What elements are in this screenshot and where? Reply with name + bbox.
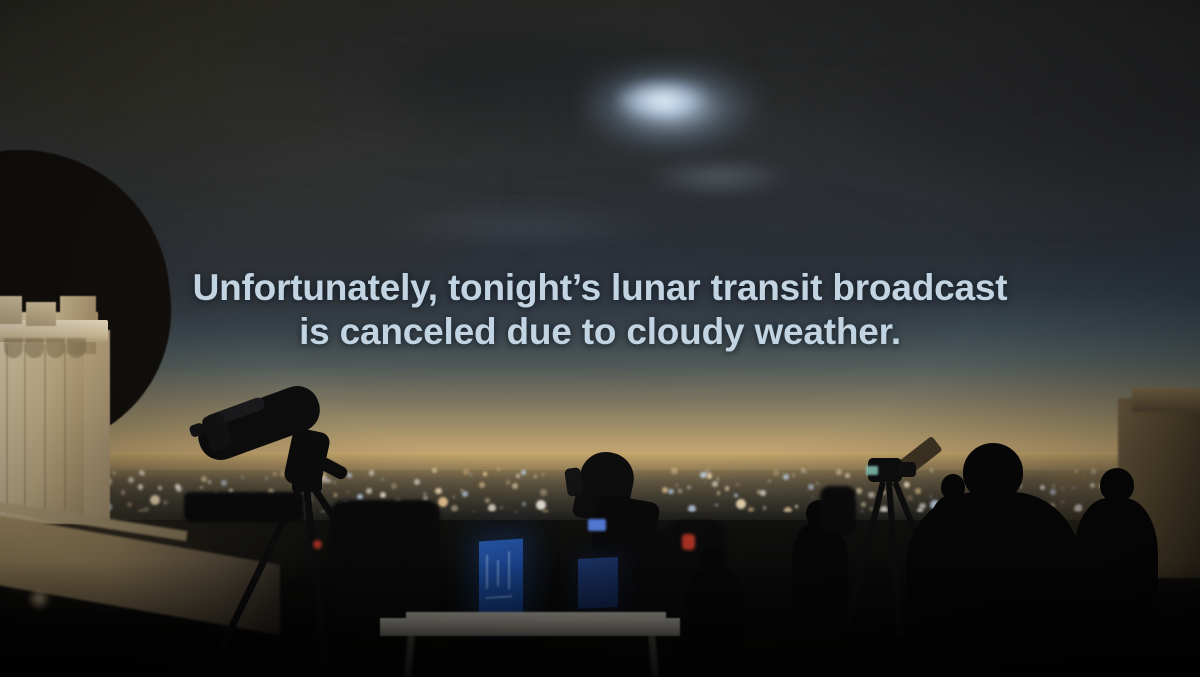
camera-right-lens <box>898 462 916 477</box>
camera-right-lcd-screen <box>866 466 878 475</box>
city-light <box>763 506 766 509</box>
low-wall-object-left <box>184 492 304 522</box>
city-light <box>534 475 537 478</box>
equipment-box-right <box>820 486 856 534</box>
photo-scene: Unfortunately, tonight’s lunar transit b… <box>0 0 1200 677</box>
city-light <box>158 486 162 490</box>
city-light <box>671 468 678 475</box>
city-light <box>678 489 681 492</box>
city-light <box>453 496 455 498</box>
city-light <box>241 476 245 480</box>
city-light <box>717 479 719 481</box>
city-light <box>522 502 526 506</box>
person-seated-body <box>686 568 744 648</box>
laptop-screen-primary[interactable] <box>479 538 523 615</box>
city-light <box>435 488 442 495</box>
red-flashlight-center <box>682 534 695 550</box>
city-light <box>488 504 496 512</box>
city-light <box>915 488 921 494</box>
city-light <box>736 499 746 509</box>
city-light <box>662 487 668 493</box>
person-left-crouching <box>352 505 404 575</box>
city-light <box>208 480 212 484</box>
city-light <box>265 477 268 480</box>
city-light <box>1040 485 1046 491</box>
city-light <box>334 493 338 497</box>
city-light <box>715 504 718 507</box>
city-light <box>836 469 842 475</box>
city-light <box>461 489 464 492</box>
city-light <box>725 486 730 491</box>
city-light <box>221 480 227 486</box>
moon-bright-core <box>614 78 710 122</box>
person-mid-right-body <box>927 496 979 606</box>
laptop-screen-secondary[interactable] <box>578 557 618 609</box>
city-light <box>483 472 487 476</box>
city-light <box>717 491 721 495</box>
city-light <box>423 492 427 496</box>
city-light <box>200 486 203 489</box>
city-light <box>391 483 397 489</box>
moonlit-cloud-wisp <box>648 160 788 194</box>
city-light <box>139 470 144 475</box>
city-light <box>500 506 503 509</box>
city-light <box>121 490 126 495</box>
city-light <box>333 481 336 484</box>
city-light <box>861 502 866 507</box>
city-light <box>768 480 771 483</box>
city-light <box>804 471 807 474</box>
city-light <box>668 489 673 494</box>
city-light <box>676 484 678 486</box>
city-light <box>930 469 933 472</box>
city-light <box>521 470 526 475</box>
city-light <box>451 505 458 512</box>
city-light <box>347 473 352 478</box>
city-light <box>462 491 468 497</box>
city-light <box>704 481 707 484</box>
red-indicator-light-left <box>313 540 322 549</box>
city-light <box>463 469 469 475</box>
caption-text: Unfortunately, tonight’s lunar transit b… <box>0 266 1200 354</box>
city-light <box>201 476 207 482</box>
city-light <box>783 474 789 480</box>
city-light <box>512 483 518 489</box>
city-light <box>773 470 779 476</box>
city-light <box>868 492 875 499</box>
city-light <box>128 477 134 483</box>
city-light <box>327 479 331 483</box>
city-light <box>516 474 520 478</box>
city-light <box>792 474 795 477</box>
city-light <box>112 471 116 475</box>
city-light <box>273 472 277 476</box>
city-light <box>812 496 814 498</box>
city-light <box>795 505 798 508</box>
city-light <box>485 498 490 503</box>
city-light <box>369 470 375 476</box>
city-light <box>687 486 690 489</box>
city-light <box>438 497 448 507</box>
city-light <box>707 473 712 478</box>
city-light <box>479 482 485 488</box>
city-light <box>414 479 420 485</box>
city-light <box>380 492 386 498</box>
city-light <box>366 488 372 494</box>
terrace-lamp-glow <box>28 588 50 610</box>
city-light <box>346 491 348 493</box>
table-surface-front <box>380 618 680 636</box>
city-light <box>506 480 511 485</box>
telescope-center-blue-indicator <box>588 519 606 531</box>
person-mid-body <box>792 522 848 622</box>
city-light <box>930 495 933 498</box>
city-light <box>808 484 814 490</box>
city-light <box>907 495 913 501</box>
city-light <box>856 488 862 494</box>
person-right-head <box>1100 468 1134 502</box>
person-right-body <box>1074 498 1158 638</box>
city-light <box>381 478 384 481</box>
city-light <box>736 483 739 486</box>
city-light <box>816 482 819 485</box>
city-light <box>542 473 545 476</box>
city-light <box>175 484 179 488</box>
city-light <box>717 477 719 479</box>
city-light <box>138 484 144 490</box>
city-light <box>540 489 547 496</box>
city-light <box>432 468 437 473</box>
city-light <box>536 500 546 510</box>
city-light <box>845 473 850 478</box>
moonlit-cloud-wisp-secondary <box>380 205 660 245</box>
city-light <box>470 473 473 476</box>
right-building-parapet <box>1132 388 1200 412</box>
city-light <box>734 494 737 497</box>
city-light <box>712 481 718 487</box>
city-light <box>497 468 499 470</box>
